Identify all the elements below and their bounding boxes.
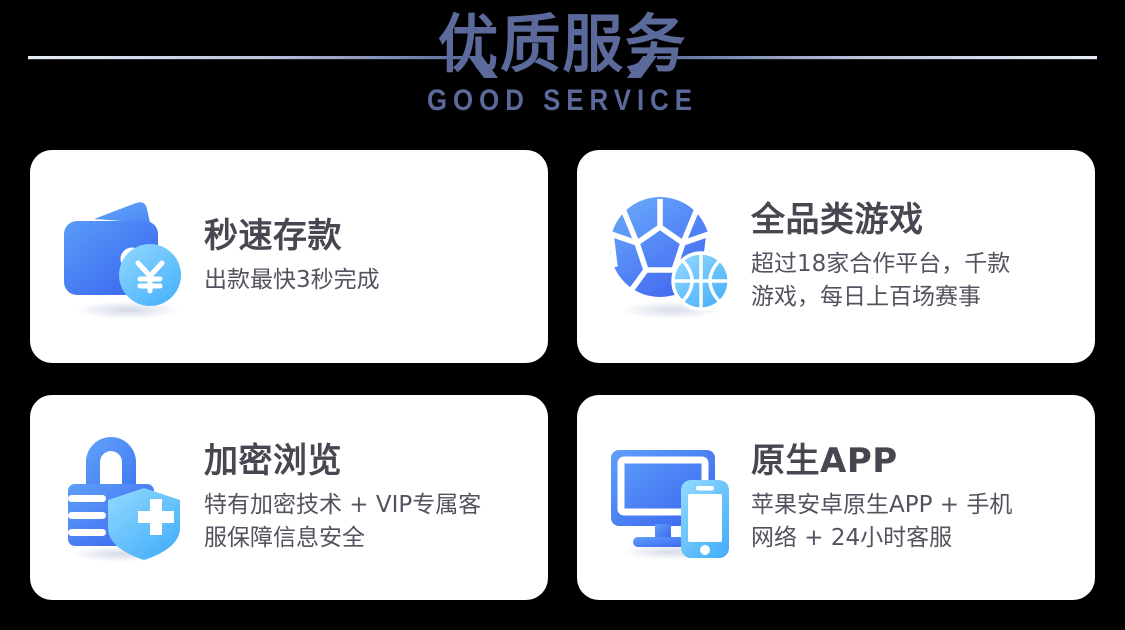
card-subtitle: 特有加密技术 + VIP专属客 服保障信息安全 — [204, 489, 526, 554]
card-subtitle: 超过18家合作平台，千款 游戏，每日上百场赛事 — [751, 248, 1073, 313]
card-subtitle-line: 苹果安卓原生APP + 手机 — [751, 489, 1073, 522]
card-title: 加密浏览 — [204, 441, 526, 482]
card-subtitle-line: 出款最快3秒完成 — [204, 264, 526, 297]
card-subtitle-line: 服保障信息安全 — [204, 522, 526, 555]
card-subtitle-line: 超过18家合作平台，千款 — [751, 248, 1073, 281]
feature-card-encryption[interactable]: 加密浏览 特有加密技术 + VIP专属客 服保障信息安全 — [30, 395, 548, 600]
card-title: 全品类游戏 — [751, 200, 1073, 241]
page-header: 优质服务 GOOD SERVICE — [0, 0, 1125, 142]
feature-card-grid: 秒速存款 出款最快3秒完成 — [30, 150, 1095, 600]
page-title-en: GOOD SERVICE — [79, 84, 1047, 118]
feature-card-native-app[interactable]: 原生APP 苹果安卓原生APP + 手机 网络 + 24小时客服 — [577, 395, 1095, 600]
card-title: 原生APP — [751, 441, 1073, 482]
card-subtitle: 苹果安卓原生APP + 手机 网络 + 24小时客服 — [751, 489, 1073, 554]
lock-shield-icon — [58, 432, 190, 564]
card-subtitle-line: 游戏，每日上百场赛事 — [751, 281, 1073, 314]
card-subtitle: 出款最快3秒完成 — [204, 264, 526, 297]
card-text-native-app: 原生APP 苹果安卓原生APP + 手机 网络 + 24小时客服 — [737, 441, 1073, 555]
card-title: 秒速存款 — [204, 216, 526, 257]
monitor-phone-icon — [605, 432, 737, 564]
header-title-block: 优质服务 GOOD SERVICE — [0, 8, 1125, 118]
feature-card-games[interactable]: 全品类游戏 超过18家合作平台，千款 游戏，每日上百场赛事 — [577, 150, 1095, 363]
soccer-basketball-icon — [605, 191, 737, 323]
feature-card-deposit[interactable]: 秒速存款 出款最快3秒完成 — [30, 150, 548, 363]
card-text-encryption: 加密浏览 特有加密技术 + VIP专属客 服保障信息安全 — [190, 441, 526, 555]
card-text-deposit: 秒速存款 出款最快3秒完成 — [190, 216, 526, 297]
page-title-cn: 优质服务 — [23, 8, 1103, 82]
card-text-games: 全品类游戏 超过18家合作平台，千款 游戏，每日上百场赛事 — [737, 200, 1073, 314]
card-subtitle-line: 网络 + 24小时客服 — [751, 522, 1073, 555]
wallet-yen-icon — [58, 191, 190, 323]
card-subtitle-line: 特有加密技术 + VIP专属客 — [204, 489, 526, 522]
